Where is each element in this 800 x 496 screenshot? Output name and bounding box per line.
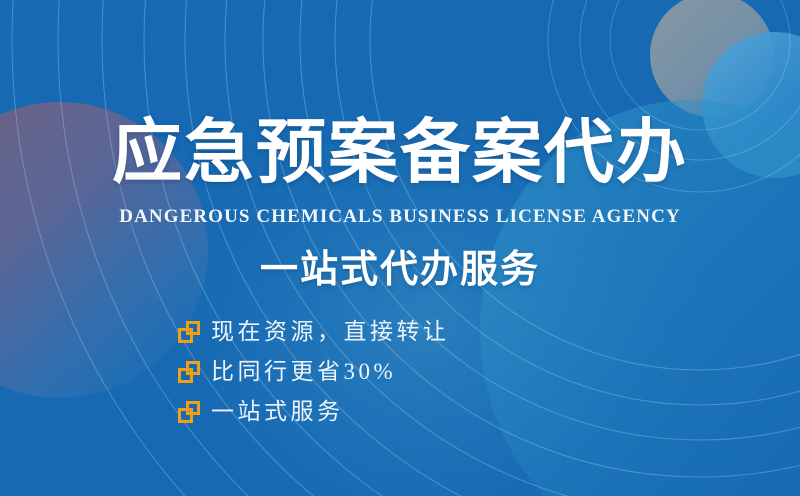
feature-label: 现在资源，直接转让 — [211, 317, 450, 347]
english-subtitle: DANGEROUS CHEMICALS BUSINESS LICENSE AGE… — [0, 205, 800, 229]
promo-banner: 应急预案备案代办 DANGEROUS CHEMICALS BUSINESS LI… — [0, 0, 800, 496]
feature-label: 比同行更省30% — [211, 357, 396, 387]
list-item: 一站式服务 — [178, 397, 450, 427]
list-item: 现在资源，直接转让 — [178, 317, 450, 347]
banner-content: 应急预案备案代办 DANGEROUS CHEMICALS BUSINESS LI… — [0, 0, 800, 496]
sub-title: 一站式代办服务 — [0, 245, 800, 293]
overlapping-squares-icon — [178, 401, 200, 423]
feature-label: 一站式服务 — [211, 397, 344, 427]
overlapping-squares-icon — [178, 321, 200, 343]
list-item: 比同行更省30% — [178, 357, 450, 387]
overlapping-squares-icon — [178, 361, 200, 383]
page-title: 应急预案备案代办 — [0, 112, 800, 192]
feature-list: 现在资源，直接转让 比同行更省30% 一站式服务 — [178, 317, 450, 427]
